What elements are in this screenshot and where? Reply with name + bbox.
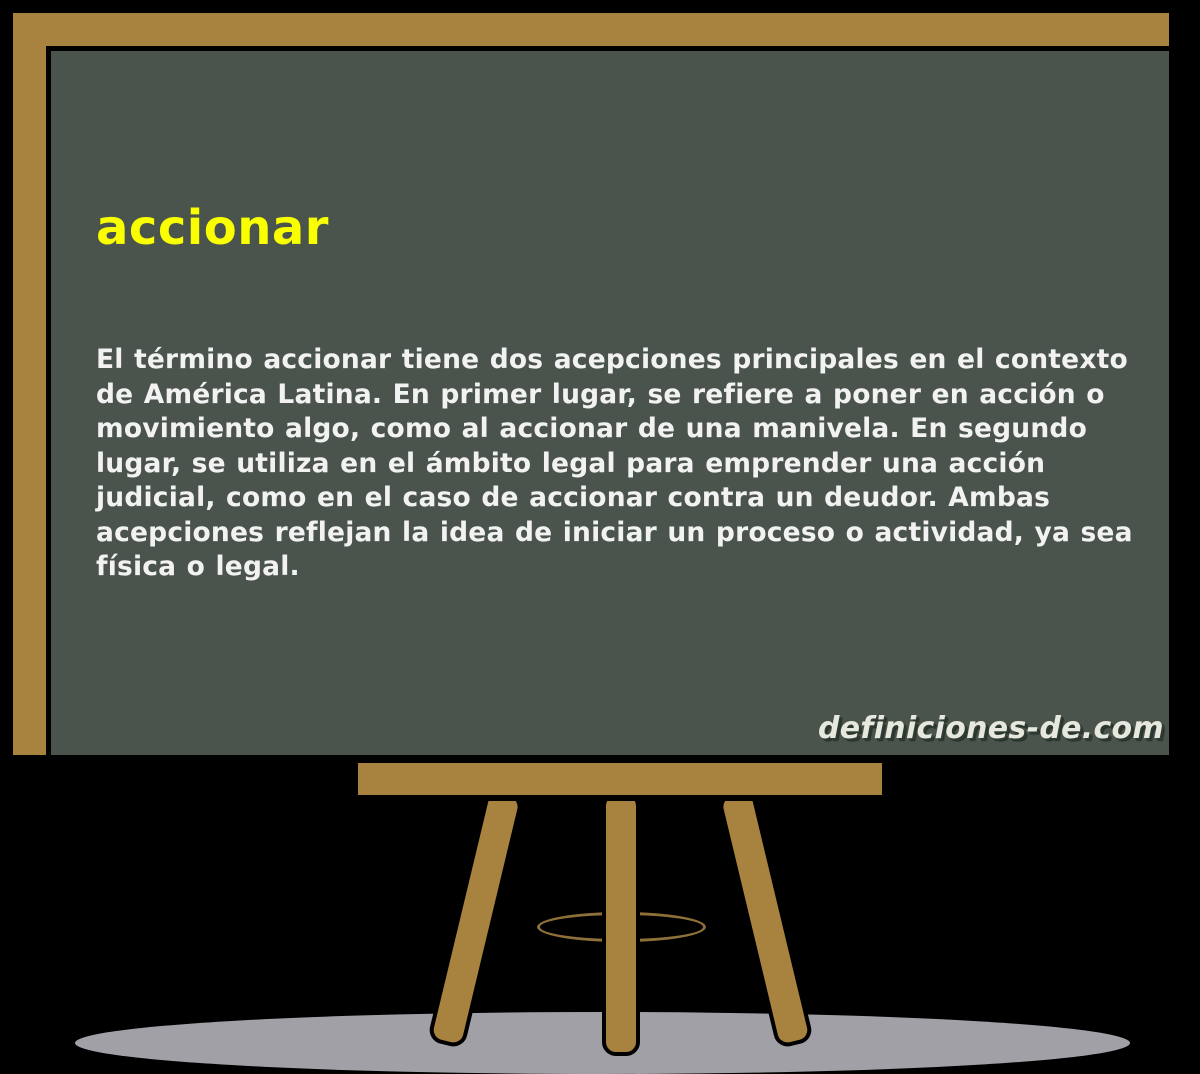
- entry-title: accionar: [96, 203, 329, 253]
- easel-leg-right: [717, 788, 815, 1050]
- easel-frame: accionar El término accionar tiene dos a…: [8, 8, 1174, 760]
- easel-leg-left: [427, 788, 525, 1050]
- chalkboard: accionar El término accionar tiene dos a…: [46, 46, 1174, 760]
- chalkboard-content: accionar El término accionar tiene dos a…: [51, 51, 1169, 755]
- definition-chalkboard-scene: accionar El término accionar tiene dos a…: [0, 0, 1200, 1056]
- chalk-tray: [352, 757, 888, 801]
- site-watermark: definiciones-de.com: [818, 711, 1164, 746]
- definition-text: El término accionar tiene dos acepciones…: [96, 343, 1151, 585]
- easel-leg-center: [602, 792, 640, 1056]
